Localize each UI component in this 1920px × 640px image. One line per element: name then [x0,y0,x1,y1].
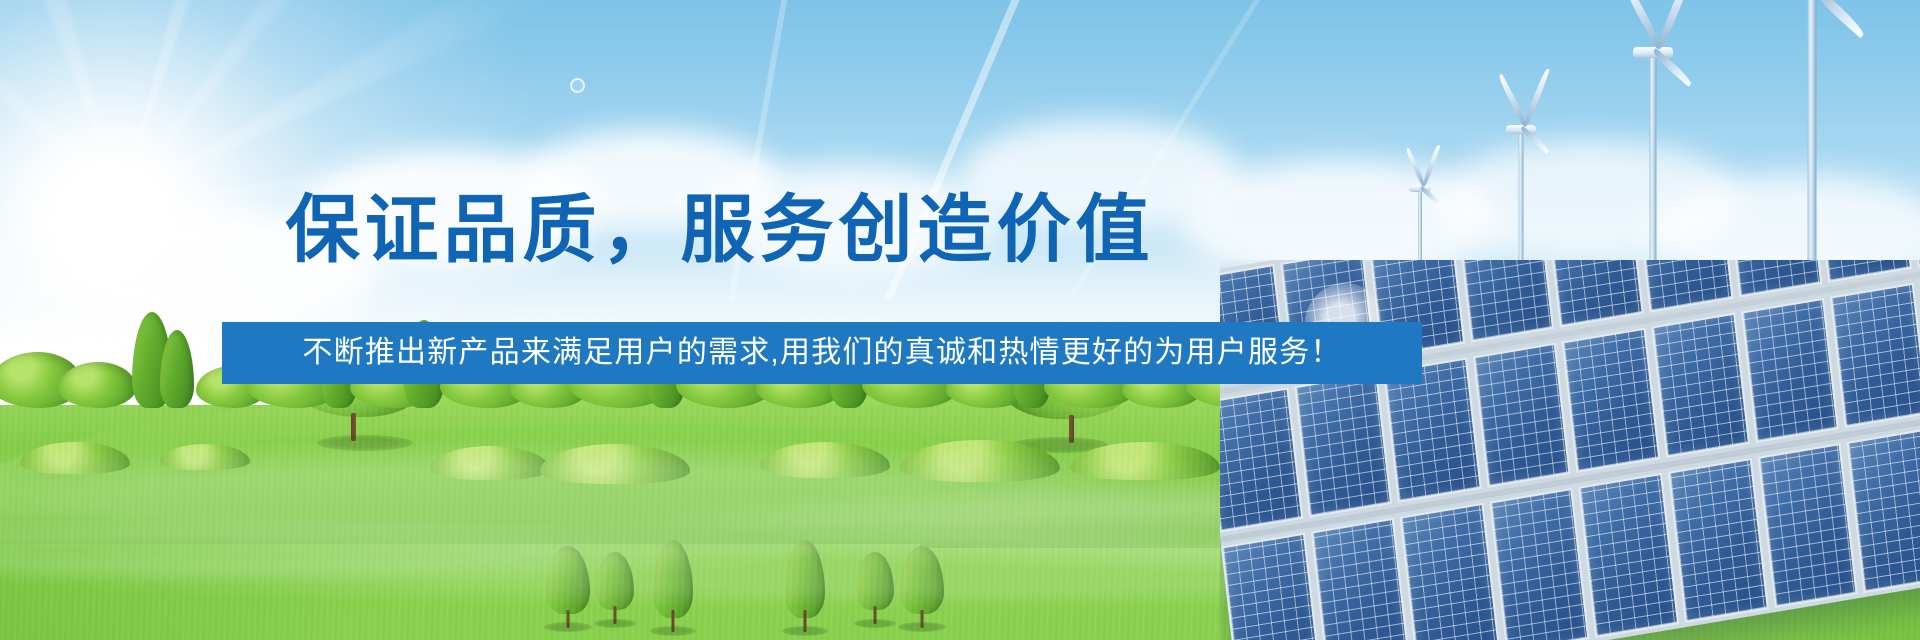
solar-panel [1651,313,1749,458]
solar-panel [1473,343,1571,488]
solar-panel [1668,458,1769,623]
solar-panel [1578,473,1679,638]
solar-panel [1741,298,1839,443]
solar-panel [1637,260,1733,313]
solar-panel [1459,260,1555,343]
solar-panel [1562,328,1660,473]
solar-panel [1221,533,1322,640]
shrub [160,444,250,470]
subtitle-bar: 不断推出新产品来满足用户的需求,用我们的真诚和热情更好的为用户服务！ [222,322,1422,384]
sapling [542,544,594,628]
sapling [780,536,830,632]
sapling [852,552,898,624]
solar-panel-array [1220,260,1920,640]
solar-panel [1489,488,1590,640]
sapling [592,552,638,624]
sapling [896,544,948,628]
shrub [1070,442,1220,480]
solar-panel [1727,260,1823,298]
solar-panel [1847,428,1920,593]
solar-panel [1310,518,1411,640]
solar-panel [1294,372,1392,517]
page-title: 保证品质，服务创造价值 [0,188,1440,272]
shrub [760,442,890,478]
shrub [430,446,550,480]
solar-panel [1757,443,1858,608]
tree [58,362,136,408]
subtitle-text: 不断推出新产品来满足用户的需求,用我们的真诚和热情更好的为用户服务！ [302,336,1341,370]
solar-panel [1830,283,1920,428]
sapling [648,536,698,632]
promo-banner: 保证品质，服务创造价值 不断推出新产品来满足用户的需求,用我们的真诚和热情更好的… [0,0,1920,640]
hill-mid [0,424,1380,544]
solar-array-surface [1220,260,1920,640]
solar-panel [1400,503,1501,640]
shrub [540,444,690,484]
solar-panel [1816,260,1912,283]
solar-panel [1220,387,1303,532]
shrub [900,440,1060,482]
shrub [20,442,130,474]
solar-panel [1548,260,1644,328]
